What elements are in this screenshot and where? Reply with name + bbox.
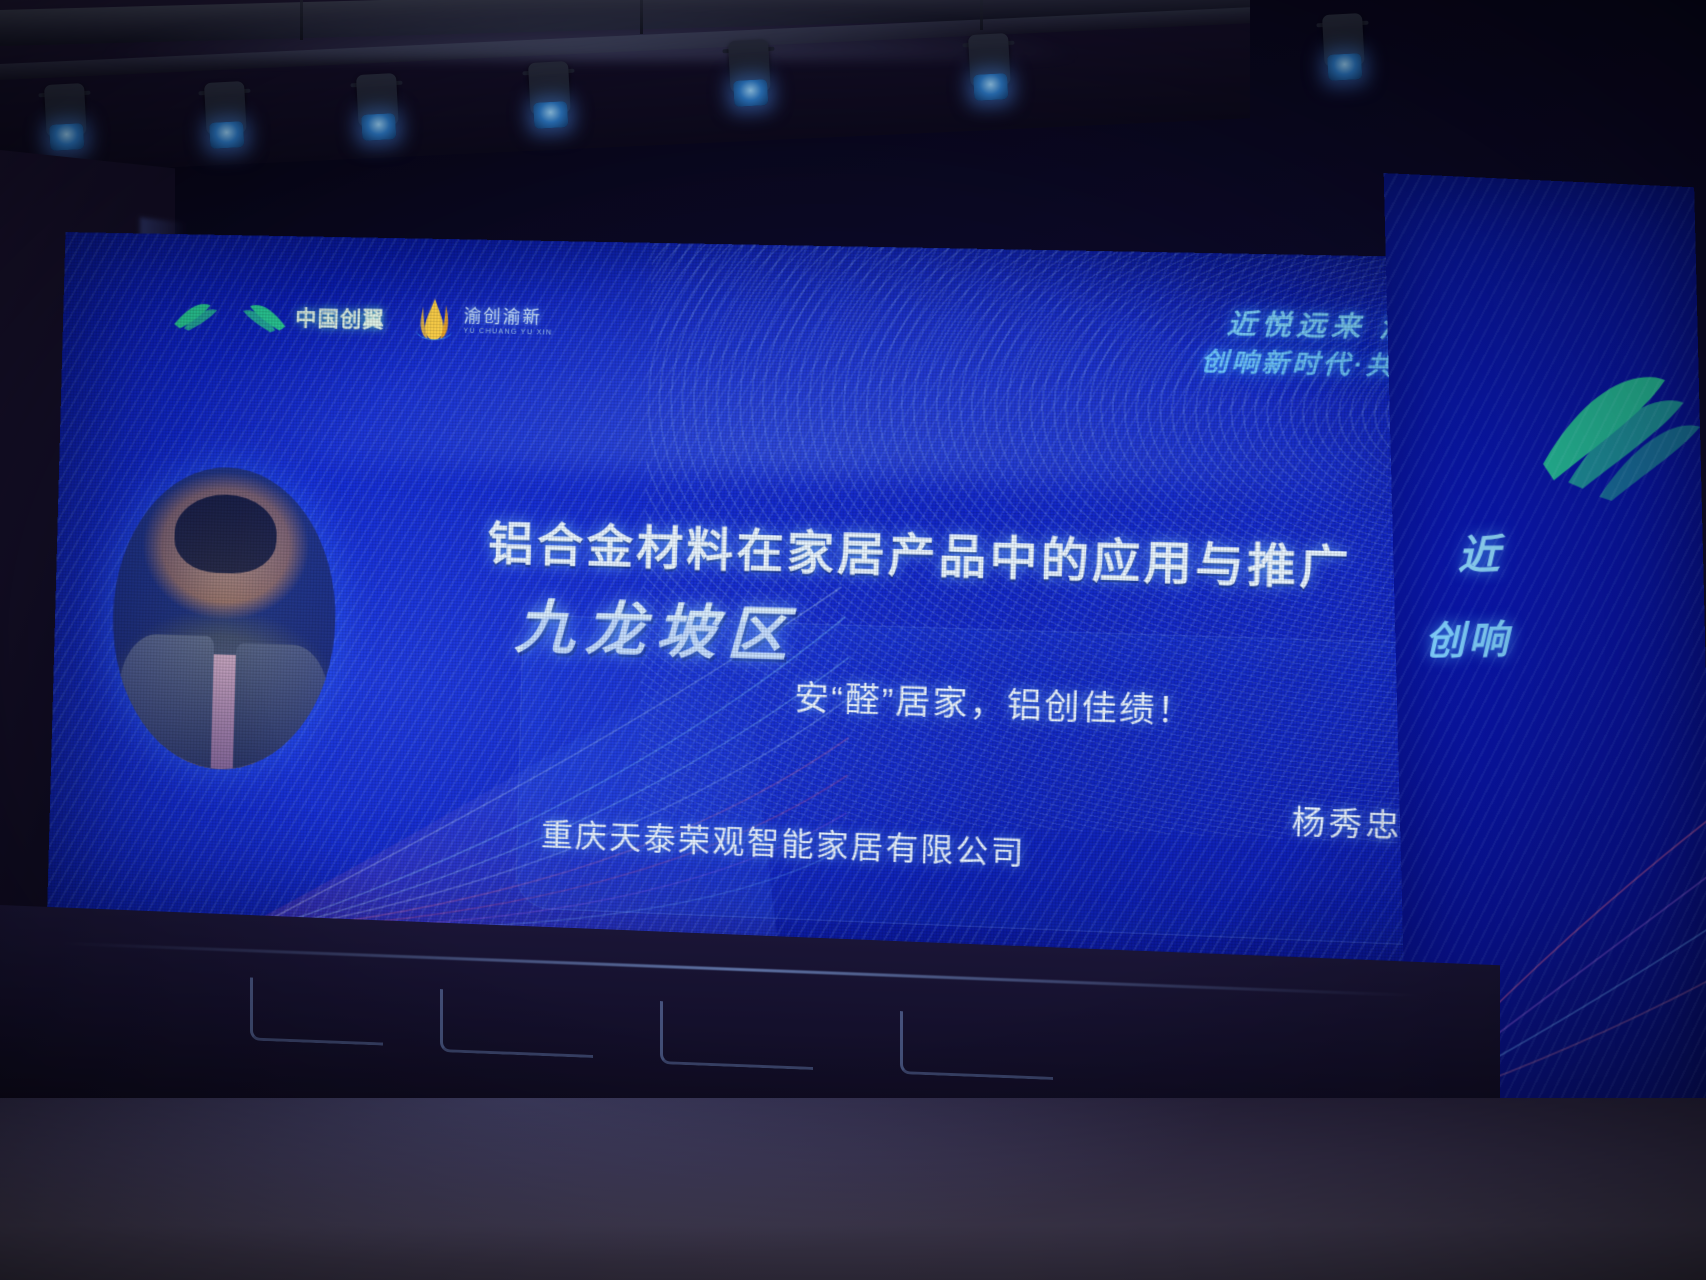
slide-speaker-name: 杨秀忠 <box>1291 795 1403 846</box>
wings-icon <box>169 295 289 338</box>
stage-light <box>38 83 94 164</box>
logo-yuchuang-label-en: YU CHUANG YU XIN <box>463 327 552 336</box>
led-screen: 中国创翼 渝创渝新 YU CHUANG YU XIN <box>47 232 1580 997</box>
stage-light <box>962 33 1018 114</box>
stage-light <box>722 39 778 120</box>
flame-icon <box>411 297 457 345</box>
logo-yuchuang-label-cn: 渝创渝新 <box>464 307 553 326</box>
stage-light <box>1316 13 1372 94</box>
stage-scene: 中国创翼 渝创渝新 YU CHUANG YU XIN <box>0 0 1706 1280</box>
truss-glow <box>90 0 1090 60</box>
slide-logo-row: 中国创翼 渝创渝新 YU CHUANG YU XIN <box>169 292 553 347</box>
led-screen-surface: 中国创翼 渝创渝新 YU CHUANG YU XIN <box>47 232 1580 997</box>
stage-light <box>522 61 578 142</box>
slide-content-panel: 安“醛”居家，铝创佳绩！ 杨秀忠 重庆天泰荣观智能家居有限公司 <box>515 614 1483 947</box>
logo-china-chuangyi-label: 中国创翼 <box>295 302 385 334</box>
speaker-portrait <box>109 465 339 774</box>
logo-china-chuangyi: 中国创翼 <box>169 295 385 340</box>
stage-light <box>198 81 254 162</box>
stage-chevron <box>660 1001 813 1070</box>
slide-company-name: 重庆天泰荣观智能家居有限公司 <box>540 808 1026 873</box>
banner-wings-icon <box>1534 351 1706 505</box>
rigging-cable <box>640 0 643 34</box>
stage-chevron <box>900 1011 1053 1080</box>
logo-yuchuang: 渝创渝新 YU CHUANG YU XIN <box>411 297 553 347</box>
banner-line-1: 近 <box>1457 522 1505 582</box>
banner-line-2: 创响 <box>1424 607 1512 665</box>
stage-chevron <box>440 989 593 1058</box>
rigging-cable <box>980 0 983 30</box>
rigging-cable <box>300 0 303 40</box>
stage-chevron <box>250 977 383 1045</box>
venue-floor <box>0 1098 1706 1280</box>
slide-subtitle: 安“醛”居家，铝创佳绩！ <box>521 662 1480 744</box>
stage-light <box>350 73 406 154</box>
